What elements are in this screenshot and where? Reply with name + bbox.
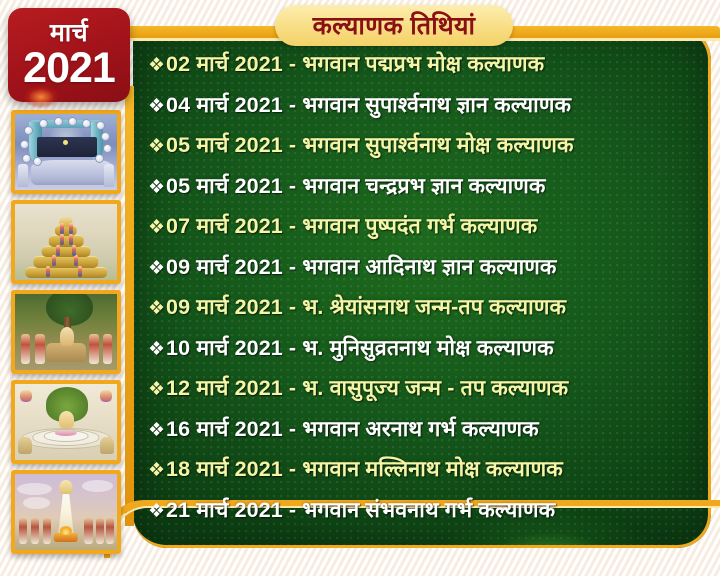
artwork-tap-kalyanak	[15, 294, 117, 370]
devotee-figure	[35, 334, 44, 364]
artwork-moksha-kalyanak	[15, 474, 117, 550]
diamond-bullet-icon: ❖	[148, 218, 165, 237]
event-text: 10 मार्च 2021 - भ. मुनिसुव्रतनाथ मोक्ष क…	[166, 338, 554, 360]
seated-tirthankara-figure	[59, 411, 74, 428]
devotee-figure	[103, 334, 112, 364]
devotee-figure	[56, 245, 60, 256]
devotee-figure	[106, 518, 114, 544]
devotee-figure	[31, 518, 39, 544]
panel-left-gold-strip	[125, 86, 134, 526]
artwork-garbha-kalyanak	[15, 114, 117, 190]
event-text: 12 मार्च 2021 - भ. वासुपूज्य जन्म - तप क…	[166, 378, 568, 400]
event-row: ❖18 मार्च 2021 - भगवान मल्लिनाथ मोक्ष कल…	[148, 459, 706, 500]
photo-garbha-kalyanak-sixteen-dreams	[11, 110, 121, 194]
event-row: ❖04 मार्च 2021 - भगवान सुपार्श्वनाथ ज्ञा…	[148, 95, 706, 136]
event-text: 09 मार्च 2021 - भगवान आदिनाथ ज्ञान कल्या…	[166, 257, 556, 279]
diamond-bullet-icon: ❖	[148, 502, 165, 521]
meru-tier	[42, 246, 91, 258]
dream-symbol	[22, 154, 31, 163]
meru-tier	[25, 267, 107, 279]
diamond-bullet-icon: ❖	[148, 97, 165, 116]
devotee-figure	[52, 255, 56, 266]
devotee-figure	[43, 518, 51, 544]
diamond-bullet-icon: ❖	[148, 340, 165, 359]
devotee-figure	[89, 334, 98, 364]
cloud-shape	[23, 497, 50, 509]
event-text: 16 मार्च 2021 - भगवान अरनाथ गर्भ कल्याणक	[166, 419, 539, 441]
dream-symbol	[20, 140, 29, 149]
meru-tier	[33, 256, 98, 268]
event-text: 07 मार्च 2021 - भगवान पुष्पदंत गर्भ कल्य…	[166, 216, 537, 238]
devotee-figure	[96, 518, 104, 544]
dream-symbol	[95, 154, 104, 163]
event-row: ❖12 मार्च 2021 - भ. वासुपूज्य जन्म - तप …	[148, 378, 706, 419]
photo-gyan-kalyanak-samavasharan	[11, 380, 121, 464]
diamond-bullet-icon: ❖	[148, 461, 165, 480]
event-text: 05 मार्च 2021 - भगवान सुपार्श्वनाथ मोक्ष…	[166, 135, 574, 157]
devotee-figure	[46, 266, 50, 277]
devotee-figure	[69, 223, 73, 234]
cloud-shape	[82, 480, 113, 492]
diamond-bullet-icon: ❖	[148, 56, 165, 75]
flame-shape	[60, 526, 72, 535]
dream-symbol	[68, 117, 77, 126]
devotee-figure	[84, 518, 92, 544]
siddha-figure	[59, 480, 72, 494]
artwork-gyan-kalyanak	[15, 384, 117, 460]
event-text: 21 मार्च 2021 - भगवान संभवनाथ गर्भ कल्या…	[166, 500, 555, 522]
kalyanak-image-column	[11, 110, 123, 570]
event-row: ❖05 मार्च 2021 - भगवान चन्द्रप्रभ ज्ञान …	[148, 176, 706, 217]
diamond-bullet-icon: ❖	[148, 380, 165, 399]
celestial-being-figure	[100, 390, 112, 402]
cloud-shape	[17, 483, 52, 495]
devotee-figure	[19, 518, 27, 544]
dream-symbol	[96, 121, 105, 130]
diamond-bullet-icon: ❖	[148, 259, 165, 278]
devotee-figure	[69, 234, 73, 245]
dream-symbol	[33, 157, 42, 166]
seated-tirthankara-figure	[60, 327, 74, 345]
pillar-left-shape	[18, 164, 28, 187]
devotee-figure	[60, 234, 64, 245]
event-row: ❖10 मार्च 2021 - भ. मुनिसुव्रतनाथ मोक्ष …	[148, 338, 706, 379]
event-row: ❖09 मार्च 2021 - भगवान आदिनाथ ज्ञान कल्य…	[148, 257, 706, 298]
diamond-bullet-icon: ❖	[148, 421, 165, 440]
dream-symbol	[101, 132, 110, 141]
dream-symbol	[82, 119, 91, 128]
month-badge: मार्च 2021	[8, 8, 130, 102]
devotee-figure	[21, 334, 30, 364]
devotee-figure	[72, 245, 76, 256]
year-label: 2021	[23, 46, 115, 90]
stupa-shape	[18, 437, 32, 454]
event-text: 18 मार्च 2021 - भगवान मल्लिनाथ मोक्ष कल्…	[166, 459, 563, 481]
title-banner: कल्याणक तिथियां	[275, 5, 513, 46]
event-row: ❖16 मार्च 2021 - भगवान अरनाथ गर्भ कल्याण…	[148, 419, 706, 460]
diamond-bullet-icon: ❖	[148, 299, 165, 318]
photo-janma-kalyanak-meru-abhishek	[11, 200, 121, 284]
meru-tier	[49, 235, 84, 247]
devotee-figure	[78, 266, 82, 277]
pillar-right-shape	[104, 164, 114, 187]
event-text: 05 मार्च 2021 - भगवान चन्द्रप्रभ ज्ञान क…	[166, 176, 545, 198]
event-text: 04 मार्च 2021 - भगवान सुपार्श्वनाथ ज्ञान…	[166, 95, 571, 117]
diamond-bullet-icon: ❖	[148, 178, 165, 197]
kalyanak-event-list: ❖02 मार्च 2021 - भगवान पद्मप्रभ मोक्ष कल…	[148, 54, 706, 540]
event-text: 09 मार्च 2021 - भ. श्रेयांसनाथ जन्म-तप क…	[166, 297, 566, 319]
bedding-shape	[31, 160, 111, 186]
photo-tap-kalyanak-diksha	[11, 290, 121, 374]
event-row: ❖07 मार्च 2021 - भगवान पुष्पदंत गर्भ कल्…	[148, 216, 706, 257]
diamond-bullet-icon: ❖	[148, 137, 165, 156]
month-label: मार्च	[50, 20, 88, 46]
devotee-figure	[74, 255, 78, 266]
event-row: ❖05 मार्च 2021 - भगवान सुपार्श्वनाथ मोक्…	[148, 135, 706, 176]
devotee-figure	[60, 223, 64, 234]
photo-moksha-kalyanak-nirvana	[11, 470, 121, 554]
kalyanak-tithiyan-poster: मार्च 2021 कल्याणक तिथियां	[0, 0, 720, 576]
page-title: कल्याणक तिथियां	[313, 12, 476, 40]
event-row: ❖09 मार्च 2021 - भ. श्रेयांसनाथ जन्म-तप …	[148, 297, 706, 338]
artwork-janma-kalyanak	[15, 204, 117, 280]
celestial-being-figure	[20, 390, 32, 402]
stupa-shape	[100, 437, 114, 454]
event-row: ❖21 मार्च 2021 - भगवान संभवनाथ गर्भ कल्य…	[148, 500, 706, 541]
event-row: ❖02 मार्च 2021 - भगवान पद्मप्रभ मोक्ष कल…	[148, 54, 706, 95]
event-text: 02 मार्च 2021 - भगवान पद्मप्रभ मोक्ष कल्…	[166, 54, 544, 76]
dream-symbol	[54, 117, 63, 126]
moon-shape	[63, 140, 68, 145]
dream-symbol	[103, 144, 112, 153]
